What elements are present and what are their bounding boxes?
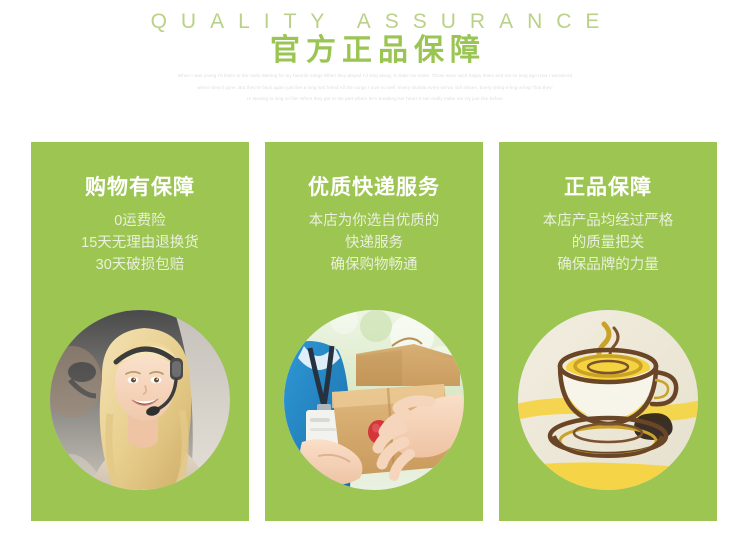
card-body: 0运费险 15天无理由退换货 30天破损包赔 (37, 210, 243, 276)
customer-service-agent-photo (50, 310, 230, 490)
card-body: 本店产品均经过严格 的质量把关 确保品牌的力量 (505, 210, 711, 276)
page-title: 官方正品保障 (0, 33, 750, 69)
courier-handing-parcel-photo (284, 310, 464, 490)
feature-card-authenticity-guarantee[interactable]: 正品保障 本店产品均经过严格 的质量把关 确保品牌的力量 (499, 142, 717, 521)
card-body-line: 本店为你选自优质的 (271, 210, 477, 232)
lede-paragraph: When I was young I'd listen to the radio… (125, 70, 625, 105)
card-body-line: 的质量把关 (505, 232, 711, 254)
card-body-line: 15天无理由退换货 (37, 232, 243, 254)
card-body-line: 本店产品均经过严格 (505, 210, 711, 232)
feature-card-express-delivery[interactable]: 优质快递服务 本店为你选自优质的 快递服务 确保购物畅通 (265, 142, 483, 521)
lede-line-3: re starting to sing so fine When they go… (125, 93, 625, 105)
lede-line-1: When I was young I'd listen to the radio… (125, 70, 625, 82)
card-title: 正品保障 (499, 175, 717, 201)
card-body-line: 确保品牌的力量 (505, 254, 711, 276)
card-body-line: 快递服务 (271, 232, 477, 254)
feature-card-list: 购物有保障 0运费险 15天无理由退换货 30天破损包赔 (31, 142, 717, 521)
eyebrow-heading: QUALITY ASSURANCE (0, 8, 750, 36)
lede-line-2: where they'd gone. But they're back agai… (125, 82, 625, 94)
card-title: 购物有保障 (31, 175, 249, 201)
card-body-line: 30天破损包赔 (37, 254, 243, 276)
coffee-cup-illustration (518, 310, 698, 490)
card-body: 本店为你选自优质的 快递服务 确保购物畅通 (271, 210, 477, 276)
card-title: 优质快递服务 (265, 175, 483, 201)
quality-assurance-banner: QUALITY ASSURANCE 官方正品保障 When I was youn… (0, 0, 750, 553)
card-body-line: 0运费险 (37, 210, 243, 232)
card-body-line: 确保购物畅通 (271, 254, 477, 276)
feature-card-shopping-guarantee[interactable]: 购物有保障 0运费险 15天无理由退换货 30天破损包赔 (31, 142, 249, 521)
banner-header: QUALITY ASSURANCE 官方正品保障 When I was youn… (0, 0, 750, 130)
